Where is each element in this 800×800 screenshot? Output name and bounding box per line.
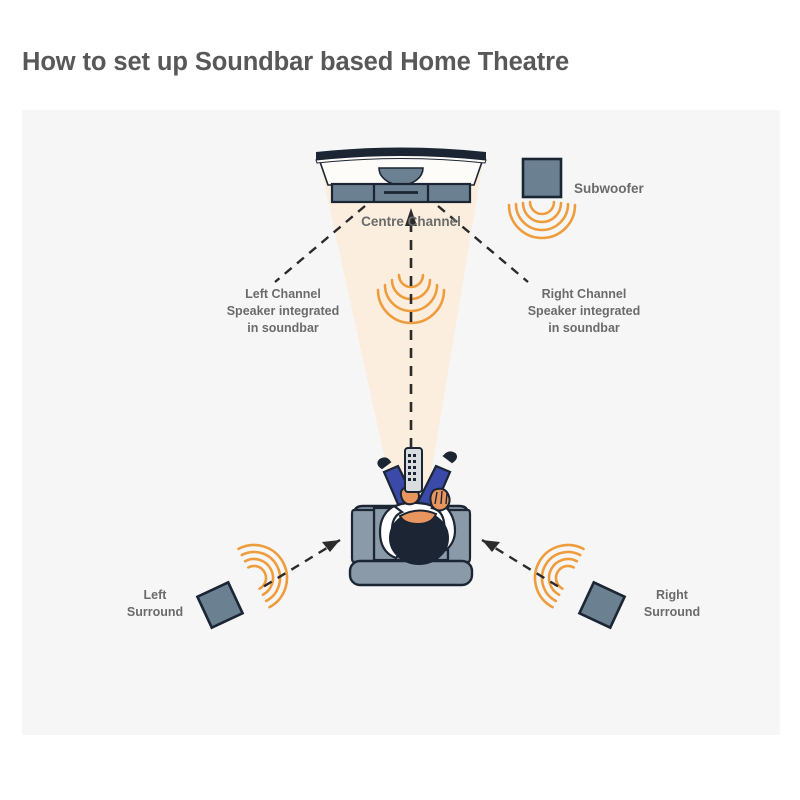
remote-control xyxy=(405,448,422,492)
svg-text:Right Channel: Right Channel xyxy=(542,287,627,301)
svg-text:Right: Right xyxy=(656,588,689,602)
svg-text:Speaker integrated: Speaker integrated xyxy=(528,304,641,318)
label-centre-channel: Centre Channel xyxy=(361,214,461,229)
diagram-panel: Centre Channel Subwoofer Left Channel Sp… xyxy=(22,110,780,735)
television xyxy=(316,148,486,186)
home-theatre-diagram: Centre Channel Subwoofer Left Channel Sp… xyxy=(22,110,780,735)
label-left-surround: Left Surround xyxy=(127,588,183,619)
left-surround-group xyxy=(197,533,340,627)
svg-text:Surround: Surround xyxy=(644,605,700,619)
soundbar xyxy=(332,184,470,202)
svg-text:in soundbar: in soundbar xyxy=(247,321,319,335)
left-surround-speaker xyxy=(197,582,242,627)
svg-text:in soundbar: in soundbar xyxy=(548,321,620,335)
label-right-channel: Right Channel Speaker integrated in soun… xyxy=(528,287,641,335)
svg-text:Left Channel: Left Channel xyxy=(245,287,321,301)
svg-text:Speaker integrated: Speaker integrated xyxy=(227,304,340,318)
svg-text:Left: Left xyxy=(144,588,168,602)
label-left-channel: Left Channel Speaker integrated in sound… xyxy=(227,287,340,335)
subwoofer xyxy=(509,159,575,238)
page-title: How to set up Soundbar based Home Theatr… xyxy=(22,48,569,77)
label-right-surround: Right Surround xyxy=(644,588,700,619)
svg-text:Surround: Surround xyxy=(127,605,183,619)
sofa-and-viewer xyxy=(350,448,472,585)
right-surround-group xyxy=(482,533,625,627)
label-subwoofer: Subwoofer xyxy=(574,181,644,196)
right-surround-speaker xyxy=(579,582,624,627)
